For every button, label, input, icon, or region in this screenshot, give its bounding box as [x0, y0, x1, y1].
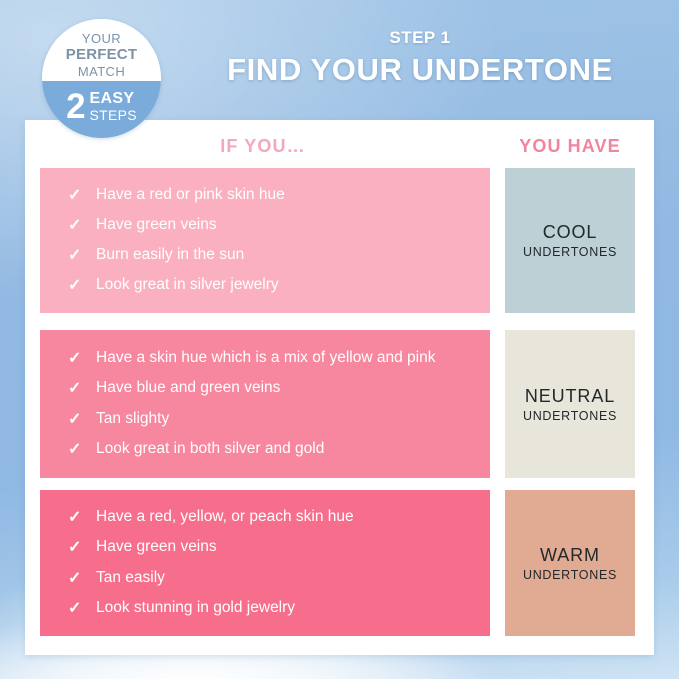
check-icon: ✓ [68, 245, 96, 266]
trait-item: ✓Have green veins [68, 210, 474, 240]
trait-item: ✓Have a red, yellow, or peach skin hue [68, 503, 474, 533]
trait-label: Burn easily in the sun [96, 245, 474, 265]
check-icon: ✓ [68, 568, 96, 589]
trait-label: Have green veins [96, 537, 474, 557]
trait-label: Look great in both silver and gold [96, 439, 474, 459]
check-icon: ✓ [68, 507, 96, 528]
check-icon: ✓ [68, 537, 96, 558]
badge-line-2: PERFECT [42, 46, 161, 64]
trait-item: ✓Tan slighty [68, 404, 474, 434]
trait-item: ✓Look great in silver jewelry [68, 271, 474, 301]
swatch-subtitle: UNDERTONES [523, 568, 617, 582]
column-header-if-you: IF YOU… [173, 136, 353, 157]
swatch-name: COOL [543, 222, 598, 243]
trait-item: ✓Tan easily [68, 563, 474, 593]
trait-item: ✓Have blue and green veins [68, 374, 474, 404]
badge-bottom-half: 2 EASY STEPS [42, 81, 161, 138]
check-icon: ✓ [68, 275, 96, 296]
check-icon: ✓ [68, 409, 96, 430]
swatch-subtitle: UNDERTONES [523, 245, 617, 259]
trait-item: ✓Have a skin hue which is a mix of yello… [68, 344, 474, 374]
badge-line-1: YOUR [42, 31, 161, 46]
undertone-swatch: COOLUNDERTONES [505, 168, 635, 313]
trait-block: ✓Have a skin hue which is a mix of yello… [40, 330, 490, 478]
main-title: FIND YOUR UNDERTONE [175, 52, 665, 88]
check-icon: ✓ [68, 439, 96, 460]
trait-item: ✓Look stunning in gold jewelry [68, 593, 474, 623]
trait-block: ✓Have a red, yellow, or peach skin hue✓H… [40, 490, 490, 636]
badge-word-steps: STEPS [90, 108, 137, 123]
trait-item: ✓Look great in both silver and gold [68, 434, 474, 464]
trait-label: Look great in silver jewelry [96, 275, 474, 295]
trait-block: ✓Have a red or pink skin hue✓Have green … [40, 168, 490, 313]
badge-steps-words: EASY STEPS [90, 91, 137, 122]
trait-item: ✓Have a red or pink skin hue [68, 180, 474, 210]
swatch-subtitle: UNDERTONES [523, 409, 617, 423]
trait-label: Have a red or pink skin hue [96, 185, 474, 205]
swatch-name: WARM [540, 545, 600, 566]
trait-label: Tan slighty [96, 409, 474, 429]
check-icon: ✓ [68, 598, 96, 619]
swatch-name: NEUTRAL [525, 386, 615, 407]
check-icon: ✓ [68, 378, 96, 399]
column-header-you-have: YOU HAVE [505, 136, 635, 157]
check-icon: ✓ [68, 185, 96, 206]
trait-label: Look stunning in gold jewelry [96, 598, 474, 618]
undertone-swatch: NEUTRALUNDERTONES [505, 330, 635, 478]
trait-label: Tan easily [96, 568, 474, 588]
trait-label: Have green veins [96, 215, 474, 235]
check-icon: ✓ [68, 215, 96, 236]
undertone-swatch: WARMUNDERTONES [505, 490, 635, 636]
badge-word-easy: EASY [90, 91, 137, 108]
trait-item: ✓Burn easily in the sun [68, 241, 474, 271]
trait-label: Have a red, yellow, or peach skin hue [96, 507, 474, 527]
step-label: STEP 1 [175, 28, 665, 48]
perfect-match-badge: YOUR PERFECT MATCH 2 EASY STEPS [42, 19, 161, 138]
page-title: STEP 1 FIND YOUR UNDERTONE [175, 28, 665, 88]
trait-label: Have a skin hue which is a mix of yellow… [96, 348, 474, 368]
badge-line-3: MATCH [42, 64, 161, 79]
badge-top-half: YOUR PERFECT MATCH [42, 19, 161, 81]
badge-step-count: 2 [66, 89, 85, 124]
check-icon: ✓ [68, 348, 96, 369]
trait-item: ✓Have green veins [68, 533, 474, 563]
trait-label: Have blue and green veins [96, 378, 474, 398]
